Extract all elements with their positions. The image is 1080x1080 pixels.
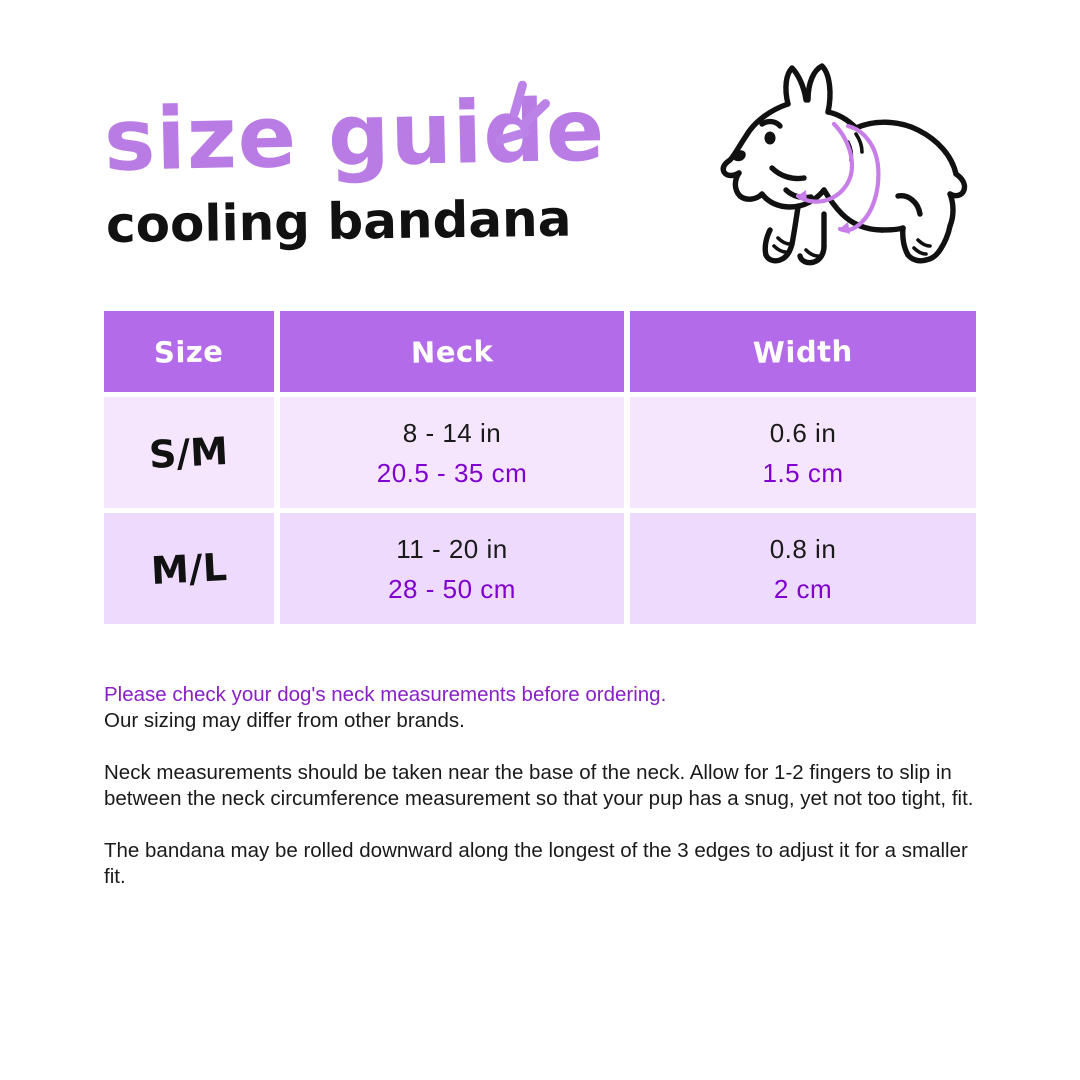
note-subnote: Our sizing may differ from other brands.: [104, 708, 984, 734]
column-header-neck: Neck: [410, 334, 493, 369]
neck-inches: 11 - 20 in: [396, 536, 507, 562]
cell-size: M/L: [104, 513, 274, 624]
width-inches: 0.6 in: [770, 420, 837, 446]
neck-centimeters: 20.5 - 35 cm: [377, 460, 528, 486]
table-header-cell-size: Size: [104, 311, 274, 392]
note-highlight: Please check your dog's neck measurement…: [104, 682, 984, 708]
cell-size: S/M: [104, 397, 274, 508]
width-centimeters: 1.5 cm: [762, 460, 843, 486]
width-inches: 0.8 in: [770, 536, 837, 562]
dog-illustration-icon: [712, 50, 984, 286]
column-header-size: Size: [154, 334, 224, 369]
cell-neck: 8 - 14 in 20.5 - 35 cm: [280, 397, 624, 508]
table-header-row: Size Neck Width: [104, 311, 976, 392]
neck-inches: 8 - 14 in: [403, 420, 501, 446]
header: size guide cooling bandana: [104, 60, 984, 280]
cell-width: 0.6 in 1.5 cm: [630, 397, 976, 508]
spacer: [104, 734, 984, 760]
table-row: S/M 8 - 14 in 20.5 - 35 cm 0.6 in 1.5 cm: [104, 397, 976, 508]
size-label: S/M: [148, 428, 229, 476]
notes-section: Please check your dog's neck measurement…: [104, 682, 984, 890]
cell-neck: 11 - 20 in 28 - 50 cm: [280, 513, 624, 624]
cell-width: 0.8 in 2 cm: [630, 513, 976, 624]
spacer: [104, 812, 984, 838]
size-guide-page: size guide cooling bandana: [0, 0, 1080, 1080]
size-label: M/L: [150, 545, 228, 593]
sparkle-icon: [496, 78, 576, 158]
width-centimeters: 2 cm: [774, 576, 832, 602]
neck-centimeters: 28 - 50 cm: [388, 576, 516, 602]
size-table: Size Neck Width S/M 8 - 14 in 20.5 - 35 …: [104, 311, 976, 624]
table-row: M/L 11 - 20 in 28 - 50 cm 0.8 in 2 cm: [104, 513, 976, 624]
note-paragraph-2: The bandana may be rolled downward along…: [104, 838, 984, 890]
page-subtitle: cooling bandana: [106, 194, 572, 250]
note-paragraph-1: Neck measurements should be taken near t…: [104, 760, 984, 812]
table-header-cell-neck: Neck: [280, 311, 624, 392]
column-header-width: Width: [753, 334, 853, 370]
table-header-cell-width: Width: [630, 311, 976, 392]
